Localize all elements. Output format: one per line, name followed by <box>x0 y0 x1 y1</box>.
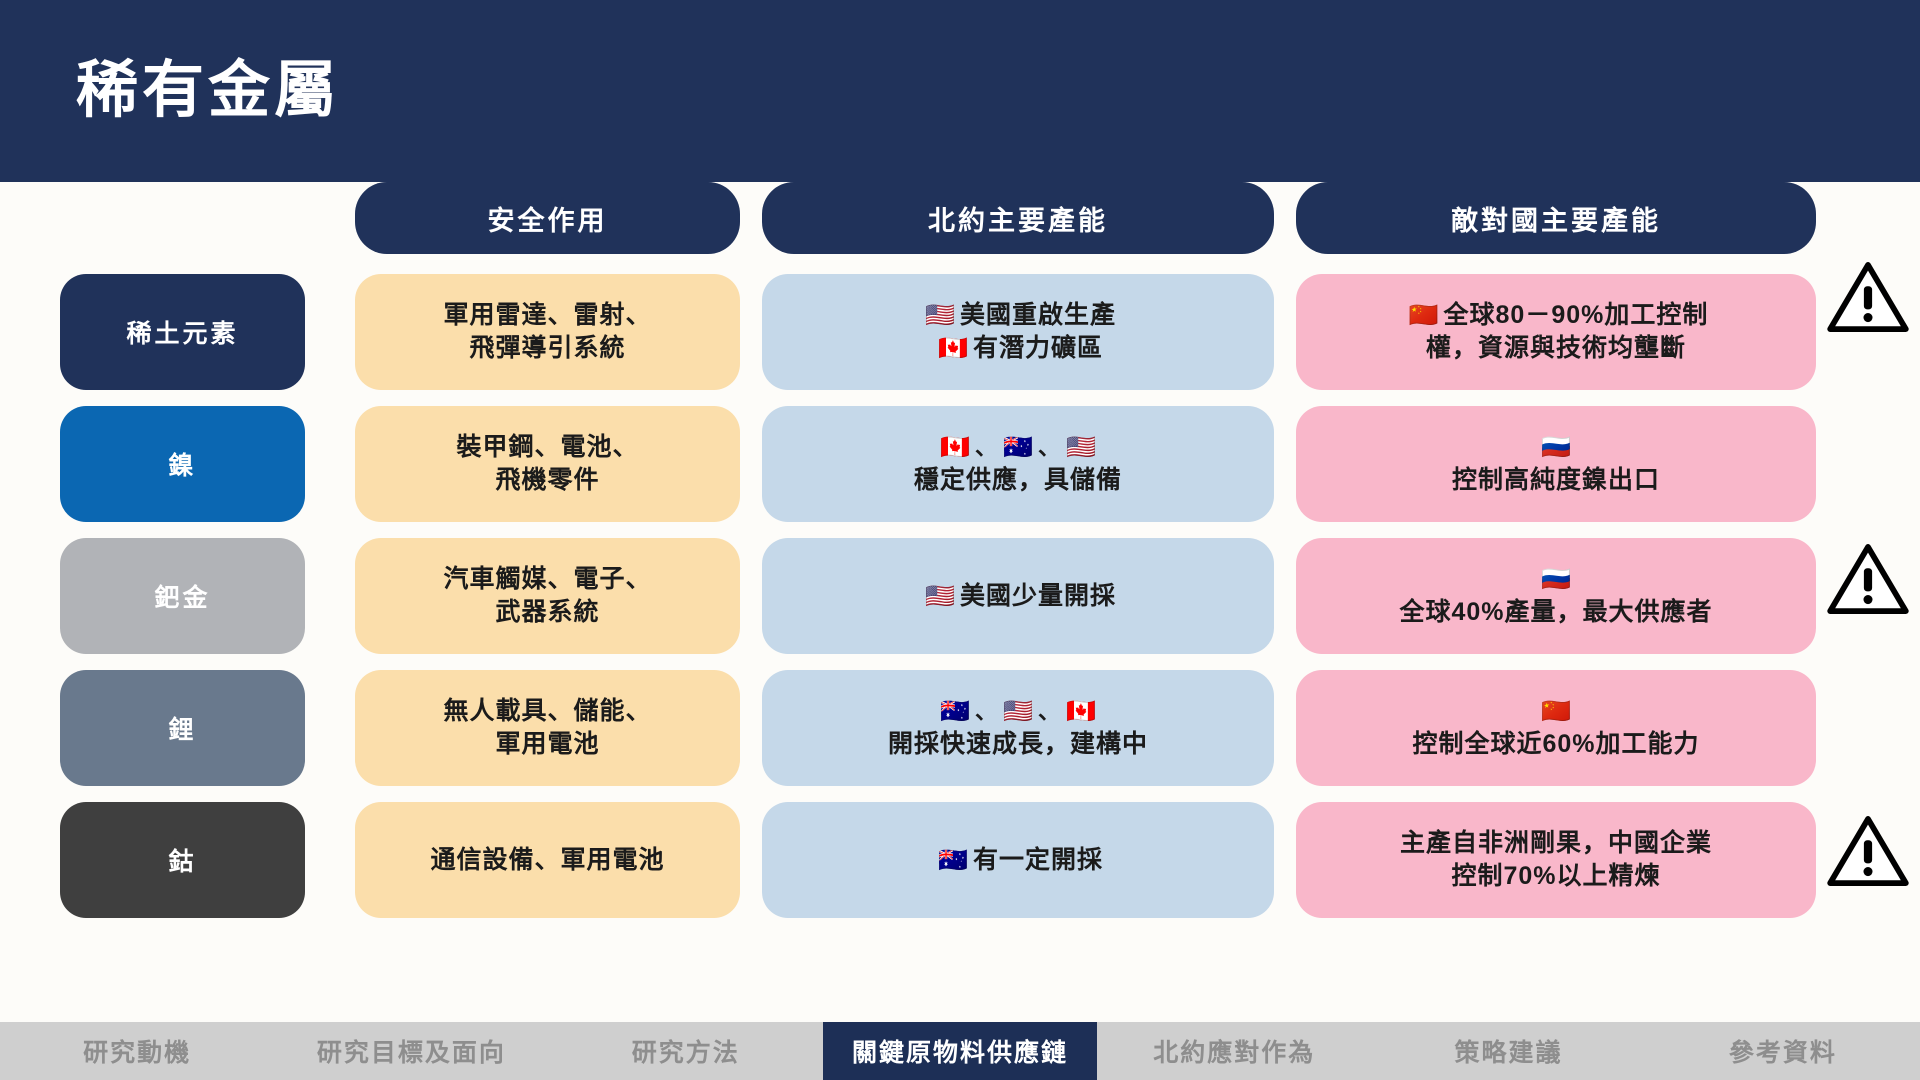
cell-adversary-cobalt: 主產自非洲剛果，中國企業 控制70%以上精煉 <box>1296 802 1816 918</box>
warning-icon-palladium <box>1826 542 1910 616</box>
cell-line: 🇨🇳全球80－90%加工控制 <box>1404 299 1709 332</box>
flag-icon-cn: 🇨🇳 <box>1541 698 1571 725</box>
cell-line: 主產自非洲剛果，中國企業 <box>1400 827 1712 860</box>
flag-icon-au: 🇦🇺 <box>940 698 970 725</box>
nav-item-motivation[interactable]: 研究動機 <box>0 1022 274 1080</box>
cell-security-palladium: 汽車觸媒、電子、 武器系統 <box>355 538 740 654</box>
gap <box>1274 538 1296 654</box>
cell-line: 權，資源與技術均壟斷 <box>1426 332 1686 365</box>
cell-nato-lithium: 🇦🇺、🇺🇸、🇨🇦 開採快速成長，建構中 <box>762 670 1274 786</box>
slide-root: 稀有金屬 安全作用 北約主要產能 敵對國主要產能 稀土元素 軍用雷達、雷射、 飛… <box>0 0 1920 1080</box>
gap <box>740 538 762 654</box>
cell-line: 全球40%產量，最大供應者 <box>1399 596 1712 629</box>
cell-line-flags: 🇷🇺 <box>1536 563 1576 596</box>
cell-security-rare-earth: 軍用雷達、雷射、 飛彈導引系統 <box>355 274 740 390</box>
flag-icon-ca: 🇨🇦 <box>940 434 970 461</box>
gap <box>305 538 355 654</box>
cell-adversary-palladium: 🇷🇺 全球40%產量，最大供應者 <box>1296 538 1816 654</box>
flag-icon-ru: 🇷🇺 <box>1541 566 1571 593</box>
flag-icon-us: 🇺🇸 <box>1003 698 1033 725</box>
cell-nato-rare-earth: 🇺🇸美國重啟生產 🇨🇦有潛力礦區 <box>762 274 1274 390</box>
cell-text: 有潛力礦區 <box>973 334 1103 362</box>
gap <box>305 670 355 786</box>
table-row: 鈀金 汽車觸媒、電子、 武器系統 🇺🇸美國少量開採 🇷🇺 全球40%產量，最大供… <box>0 538 1920 654</box>
cell-line: 控制70%以上精煉 <box>1451 860 1660 893</box>
bottom-navigation: 研究動機 研究目標及面向 研究方法 關鍵原物料供應鏈 北約應對作為 策略建議 參… <box>0 1022 1920 1080</box>
nav-item-references[interactable]: 參考資料 <box>1646 1022 1920 1080</box>
gap <box>740 182 762 262</box>
flag-icon-us: 🇺🇸 <box>1066 434 1096 461</box>
flag-icon-au: 🇦🇺 <box>1003 434 1033 461</box>
cell-line-flags: 🇨🇦、🇦🇺、🇺🇸 <box>935 431 1101 464</box>
title-banner: 稀有金屬 <box>0 0 1920 182</box>
cell-line-flags: 🇷🇺 <box>1536 431 1576 464</box>
page-title: 稀有金屬 <box>76 60 340 122</box>
cell-line: 通信設備、軍用電池 <box>430 844 664 877</box>
table-row: 稀土元素 軍用雷達、雷射、 飛彈導引系統 🇺🇸美國重啟生產 🇨🇦有潛力礦區 🇨🇳… <box>0 274 1920 390</box>
cell-nato-palladium: 🇺🇸美國少量開採 <box>762 538 1274 654</box>
gap <box>740 670 762 786</box>
cell-nato-nickel: 🇨🇦、🇦🇺、🇺🇸 穩定供應，具儲備 <box>762 406 1274 522</box>
gap <box>1274 802 1296 918</box>
cell-security-nickel: 裝甲鋼、電池、 飛機零件 <box>355 406 740 522</box>
cell-line: 控制全球近60%加工能力 <box>1412 728 1699 761</box>
row-label-lithium: 鋰 <box>60 670 305 786</box>
cell-text: 美國少量開採 <box>960 582 1116 610</box>
gap <box>740 274 762 390</box>
cell-line-flags: 🇨🇳 <box>1536 695 1576 728</box>
cell-line: 🇺🇸美國重啟生產 <box>920 299 1116 332</box>
nav-item-strategy[interactable]: 策略建議 <box>1371 1022 1645 1080</box>
column-header-security: 安全作用 <box>355 182 740 254</box>
cell-line: 穩定供應，具儲備 <box>914 464 1122 497</box>
table-row: 鎳 裝甲鋼、電池、 飛機零件 🇨🇦、🇦🇺、🇺🇸 穩定供應，具儲備 🇷🇺 控制高純… <box>0 406 1920 522</box>
flag-icon-us: 🇺🇸 <box>925 302 955 329</box>
gap <box>305 406 355 522</box>
table-row: 鈷 通信設備、軍用電池 🇦🇺有一定開採 主產自非洲剛果，中國企業 控制70%以上… <box>0 802 1920 918</box>
flag-separator: 、 <box>975 699 998 724</box>
warning-icon-rare-earth <box>1826 260 1910 334</box>
row-label-palladium: 鈀金 <box>60 538 305 654</box>
nav-item-supply-chain[interactable]: 關鍵原物料供應鏈 <box>823 1022 1097 1080</box>
gap <box>1274 406 1296 522</box>
gap <box>305 802 355 918</box>
gap <box>740 406 762 522</box>
cell-line: 飛彈導引系統 <box>469 332 625 365</box>
cell-line: 無人載具、儲能、 <box>443 695 651 728</box>
spacer <box>0 406 60 522</box>
column-header-adversary: 敵對國主要產能 <box>1296 182 1816 254</box>
cell-line: 🇨🇦有潛力礦區 <box>933 332 1103 365</box>
cell-adversary-lithium: 🇨🇳 控制全球近60%加工能力 <box>1296 670 1816 786</box>
table-row: 鋰 無人載具、儲能、 軍用電池 🇦🇺、🇺🇸、🇨🇦 開採快速成長，建構中 🇨🇳 控… <box>0 670 1920 786</box>
cell-line: 汽車觸媒、電子、 <box>443 563 651 596</box>
cell-adversary-nickel: 🇷🇺 控制高純度鎳出口 <box>1296 406 1816 522</box>
row-label-cobalt: 鈷 <box>60 802 305 918</box>
flag-icon-ca: 🇨🇦 <box>1066 698 1096 725</box>
nav-item-nato-response[interactable]: 北約應對作為 <box>1097 1022 1371 1080</box>
cell-line: 軍用電池 <box>495 728 599 761</box>
gap <box>305 182 355 262</box>
warning-icon-cobalt <box>1826 814 1910 888</box>
cell-line: 武器系統 <box>495 596 599 629</box>
nav-item-methods[interactable]: 研究方法 <box>549 1022 823 1080</box>
nav-item-objectives[interactable]: 研究目標及面向 <box>274 1022 548 1080</box>
flag-icon-au: 🇦🇺 <box>938 847 968 874</box>
gap <box>1274 670 1296 786</box>
cell-text: 有一定開採 <box>973 846 1103 874</box>
row-label-rare-earth: 稀土元素 <box>60 274 305 390</box>
flag-icon-cn: 🇨🇳 <box>1409 302 1439 329</box>
cell-line: 軍用雷達、雷射、 <box>443 299 651 332</box>
spacer <box>0 802 60 918</box>
cell-line: 飛機零件 <box>495 464 599 497</box>
flag-icon-us: 🇺🇸 <box>925 583 955 610</box>
cell-line: 裝甲鋼、電池、 <box>456 431 638 464</box>
spacer <box>0 670 60 786</box>
row-label-nickel: 鎳 <box>60 406 305 522</box>
spacer <box>0 538 60 654</box>
cell-nato-cobalt: 🇦🇺有一定開採 <box>762 802 1274 918</box>
cell-line: 🇦🇺有一定開採 <box>933 844 1103 877</box>
header-corner-blank <box>60 182 305 262</box>
gap <box>740 802 762 918</box>
spacer <box>0 274 60 390</box>
cell-line: 控制高純度鎳出口 <box>1452 464 1660 497</box>
cell-text: 全球80－90%加工控制 <box>1444 301 1709 329</box>
cell-text: 美國重啟生產 <box>960 301 1116 329</box>
cell-adversary-rare-earth: 🇨🇳全球80－90%加工控制 權，資源與技術均壟斷 <box>1296 274 1816 390</box>
cell-line: 開採快速成長，建構中 <box>888 728 1148 761</box>
comparison-table: 安全作用 北約主要產能 敵對國主要產能 稀土元素 軍用雷達、雷射、 飛彈導引系統… <box>0 182 1920 1030</box>
flag-icon-ru: 🇷🇺 <box>1541 434 1571 461</box>
flag-separator: 、 <box>1038 435 1061 460</box>
flag-separator: 、 <box>1038 699 1061 724</box>
table-header-row: 安全作用 北約主要產能 敵對國主要產能 <box>0 182 1920 262</box>
column-header-nato: 北約主要產能 <box>762 182 1274 254</box>
gap <box>1274 182 1296 262</box>
gap <box>1274 274 1296 390</box>
spacer <box>0 182 60 262</box>
flag-separator: 、 <box>975 435 998 460</box>
cell-line-flags: 🇦🇺、🇺🇸、🇨🇦 <box>935 695 1101 728</box>
cell-security-lithium: 無人載具、儲能、 軍用電池 <box>355 670 740 786</box>
cell-line: 🇺🇸美國少量開採 <box>920 580 1116 613</box>
gap <box>305 274 355 390</box>
cell-security-cobalt: 通信設備、軍用電池 <box>355 802 740 918</box>
flag-icon-ca: 🇨🇦 <box>938 335 968 362</box>
